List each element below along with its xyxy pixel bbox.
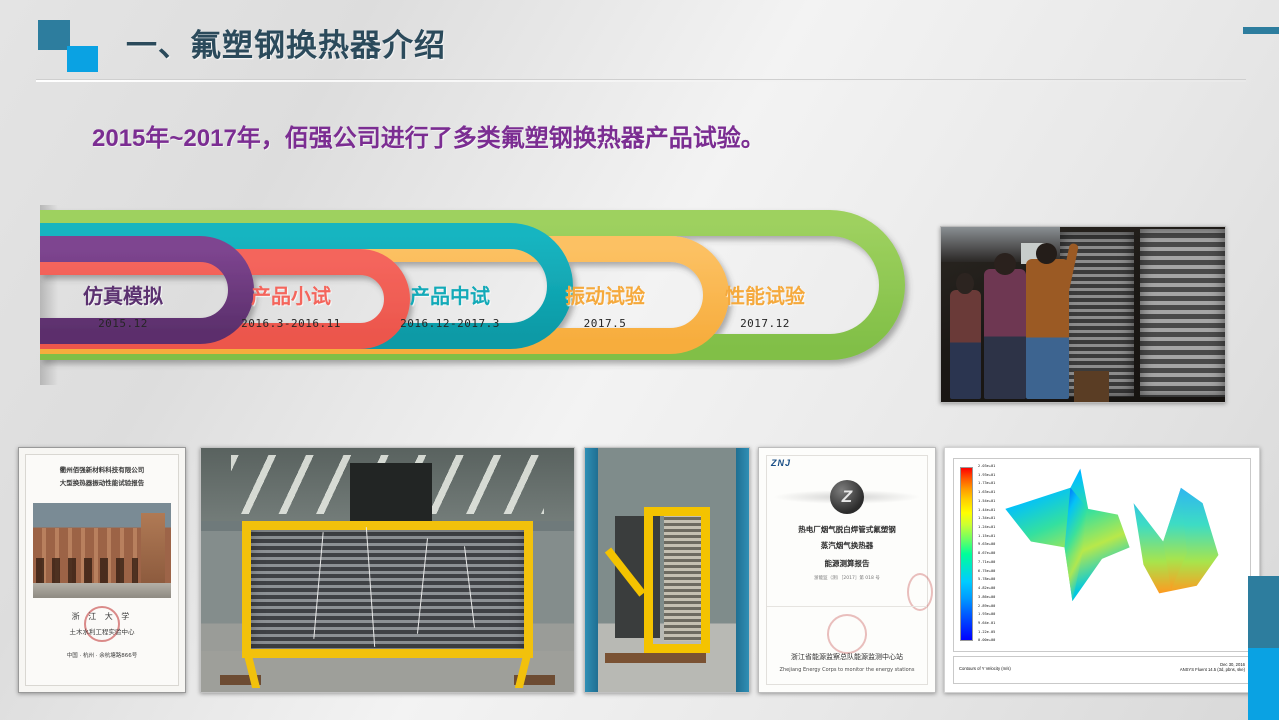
page-title: 一、氟塑钢换热器介绍 (126, 20, 446, 65)
cfd-footer-label: Contours of Y Velocity (m/s) (959, 666, 1011, 671)
vibration-floor-rail (605, 653, 707, 663)
report-zju-address: 中国 · 杭州 · 余杭塘路866号 (19, 651, 185, 659)
corner-accent (1248, 576, 1279, 720)
photo-inspection-crate (1074, 371, 1108, 403)
photo-hx-lab: 黄色钢架固定的大型换热器芯体 (200, 447, 575, 693)
report-znj-line3: 能源测算报告 (759, 558, 935, 569)
report-znj-footer-cn: 浙江省能源监察总队能源监测中心站 (759, 652, 935, 662)
timeline-label-2: 产品小试 (226, 280, 356, 309)
report-znj-logo: ZNJ (771, 458, 791, 468)
timeline-date-3: 2016.12-2017.3 (375, 317, 525, 330)
report-zju-photo (33, 503, 171, 598)
photo-inspection-person-3 (1026, 259, 1069, 399)
photo-vibration: 振动台上的换热器试件 (584, 447, 750, 693)
vibration-pillar-right (736, 448, 749, 692)
photo-report-zju: 衢州佰强新材料科技有限公司 大型换热器振动性能试验报告 浙 江 大 学 土木水利… (18, 447, 186, 693)
report-zju-page: 衢州佰强新材料科技有限公司 大型换热器振动性能试验报告 浙 江 大 学 土木水利… (19, 448, 185, 692)
cfd-footer-solver: ANSYS Fluent 14.5 (3d, pbns, ske) (1180, 667, 1245, 672)
header-logo (38, 20, 104, 68)
timeline-date-5: 2017.12 (700, 317, 830, 330)
report-znj-line1: 热电厂烟气脱白焊管式氟塑钢 (759, 524, 935, 535)
report-znj-divider (767, 606, 927, 607)
timeline-date-4: 2017.5 (540, 317, 670, 330)
corner-accent-bottom (1248, 648, 1279, 720)
title-divider (36, 79, 1246, 82)
title-divider-accent (1243, 27, 1279, 34)
timeline-date-2: 2016.3-2016.11 (216, 317, 366, 330)
report-zju-title: 大型换热器振动性能试验报告 (19, 477, 185, 487)
photo-report-znj: ZNJ Z 热电厂烟气脱白焊管式氟塑钢 蒸汽烟气换热器 能源测算报告 浙能监（测… (758, 447, 936, 693)
report-znj-seal-bottom-icon (827, 614, 867, 654)
photo-inspection-exchanger-b (1140, 229, 1225, 397)
vibration-pillar-left (585, 448, 598, 692)
hx-lab-core (246, 525, 529, 654)
cfd-footer: Contours of Y Velocity (m/s) Dec 30, 201… (953, 656, 1251, 684)
timeline-label-5: 性能试验 (700, 280, 830, 309)
timeline-label-1: 仿真模拟 (58, 280, 188, 309)
cfd-surface-graphic (954, 459, 1250, 651)
report-znj-medal-icon: Z (830, 480, 864, 514)
photo-inspection: 工厂内人员查看板式换热器 (940, 226, 1226, 403)
logo-square-dark-icon (38, 20, 70, 50)
slide-root: 一、氟塑钢换热器介绍 2015年~2017年，佰强公司进行了多类氟塑钢换热器产品… (0, 0, 1279, 720)
cfd-footer-meta: Dec 30, 2016 ANSYS Fluent 14.5 (3d, pbns… (1180, 662, 1245, 672)
logo-square-light-icon (67, 46, 98, 72)
report-zju-company: 衢州佰强新材料科技有限公司 (19, 464, 185, 474)
report-zju-department: 土木水利工程实验中心 (19, 626, 185, 636)
timeline-diagram: 仿真模拟 2015.12 产品小试 2016.3-2016.11 产品中试 20… (40, 205, 930, 385)
corner-accent-top (1248, 576, 1279, 648)
photo-cfd-contour: 2.03e+011.93e+011.73e+011.63e+011.54e+01… (944, 447, 1260, 693)
hx-lab-frame (242, 521, 533, 658)
vibration-yellow-rig (644, 507, 710, 653)
photo-inspection-person-1 (950, 290, 981, 399)
photo-inspection-person-2 (984, 269, 1027, 399)
report-znj-line2: 蒸汽烟气换热器 (759, 540, 935, 551)
subtitle-text: 2015年~2017年，佰强公司进行了多类氟塑钢换热器产品试验。 (92, 118, 765, 153)
report-zju-institution: 浙 江 大 学 (19, 611, 185, 622)
timeline-label-3: 产品中试 (385, 280, 515, 309)
report-znj-footer-en: Zhejiang Energy Corps to monitor the ene… (759, 667, 935, 673)
timeline-label-4: 振动试验 (540, 280, 670, 309)
cfd-plot-canvas: 2.03e+011.93e+011.73e+011.63e+011.54e+01… (953, 458, 1251, 652)
timeline-date-1: 2015.12 (58, 317, 188, 330)
report-znj-page: ZNJ Z 热电厂烟气脱白焊管式氟塑钢 蒸汽烟气换热器 能源测算报告 浙能监（测… (759, 448, 935, 692)
